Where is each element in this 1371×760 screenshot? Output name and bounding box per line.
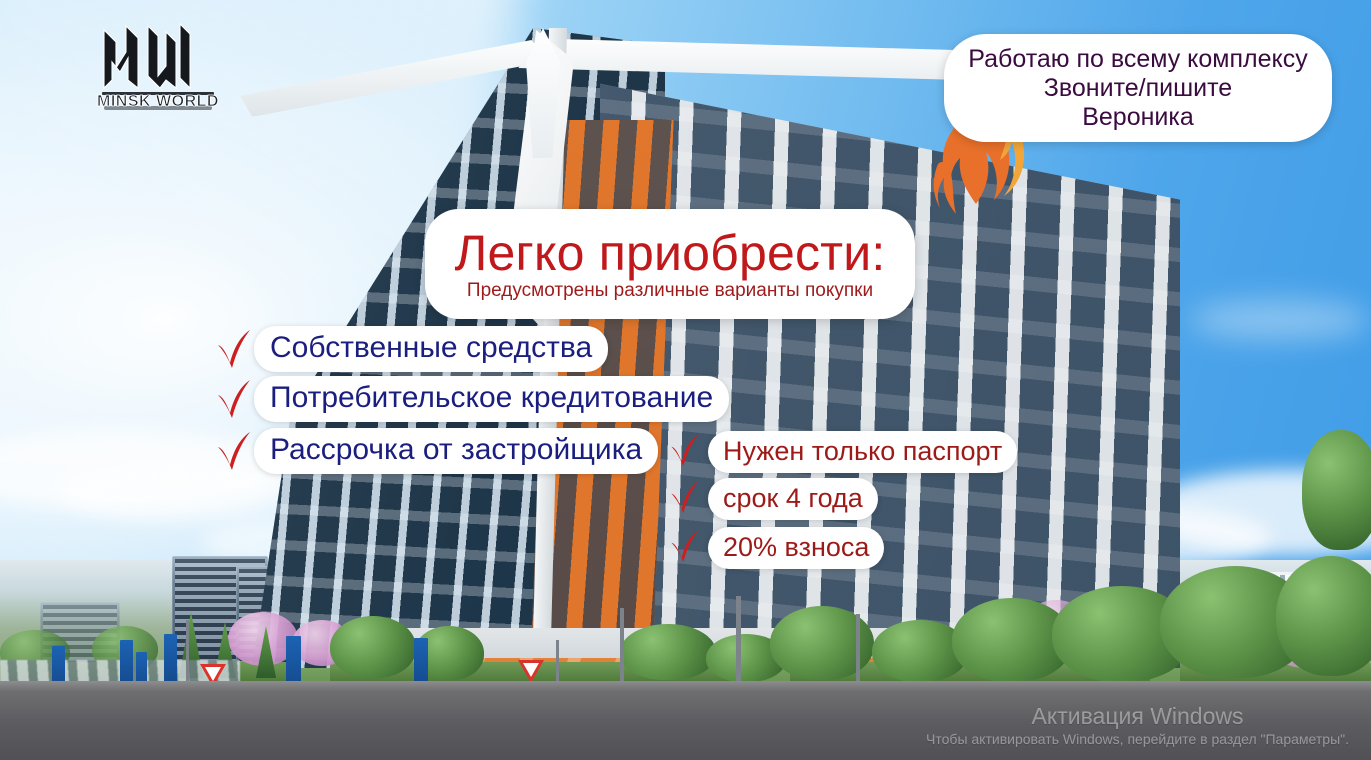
check-mark-icon (214, 377, 254, 421)
tree (1276, 556, 1371, 676)
promo-banner: MINSK WORLD Работаю по всему комплексу З… (0, 0, 1371, 760)
headline-card: Легко приобрести: Предусмотрены различны… (425, 209, 915, 319)
list-item-label: 20% взноса (708, 527, 884, 569)
list-item-label: срок 4 года (708, 478, 878, 520)
list-item-label: Потребительское кредитование (254, 376, 729, 422)
logo-wordmark: MINSK WORLD (97, 93, 219, 110)
check-mark-icon (668, 526, 708, 570)
callout-line-2: Звоните/пишите (1044, 74, 1232, 103)
callout-line-1: Работаю по всему комплексу (968, 45, 1307, 74)
yield-sign (518, 660, 544, 683)
list-item[interactable]: Собственные средства (214, 326, 608, 372)
page-title: Легко приобрести: (455, 227, 886, 279)
check-mark-icon (668, 430, 708, 474)
list-item-label: Собственные средства (254, 326, 608, 372)
flame-left (934, 162, 956, 214)
check-mark-icon (668, 477, 708, 521)
callout-line-3: Вероника (1082, 103, 1194, 132)
page-subtitle: Предусмотрены различные варианты покупки (467, 280, 873, 302)
watermark-subtitle: Чтобы активировать Windows, перейдите в … (926, 730, 1349, 748)
watermark-title: Активация Windows (926, 703, 1349, 730)
list-item[interactable]: 20% взноса (668, 526, 884, 570)
list-item-label: Рассрочка от застройщика (254, 428, 658, 474)
check-mark-icon (214, 429, 254, 473)
cloud (1190, 300, 1370, 340)
tree (330, 616, 416, 678)
minsk-world-logo[interactable]: MINSK WORLD (96, 18, 226, 116)
tree (620, 624, 716, 680)
list-item-label: Нужен только паспорт (708, 431, 1017, 473)
list-item[interactable]: Нужен только паспорт (668, 430, 1017, 474)
windows-activation-watermark: Активация Windows Чтобы активировать Win… (926, 703, 1349, 748)
street-banner (164, 634, 177, 688)
list-item[interactable]: Потребительское кредитование (214, 376, 729, 422)
list-item[interactable]: срок 4 года (668, 477, 878, 521)
check-mark-icon (214, 327, 254, 371)
list-item[interactable]: Рассрочка от застройщика (214, 428, 658, 474)
tree (1302, 430, 1371, 550)
contact-callout[interactable]: Работаю по всему комплексу Звоните/пишит… (944, 34, 1332, 142)
